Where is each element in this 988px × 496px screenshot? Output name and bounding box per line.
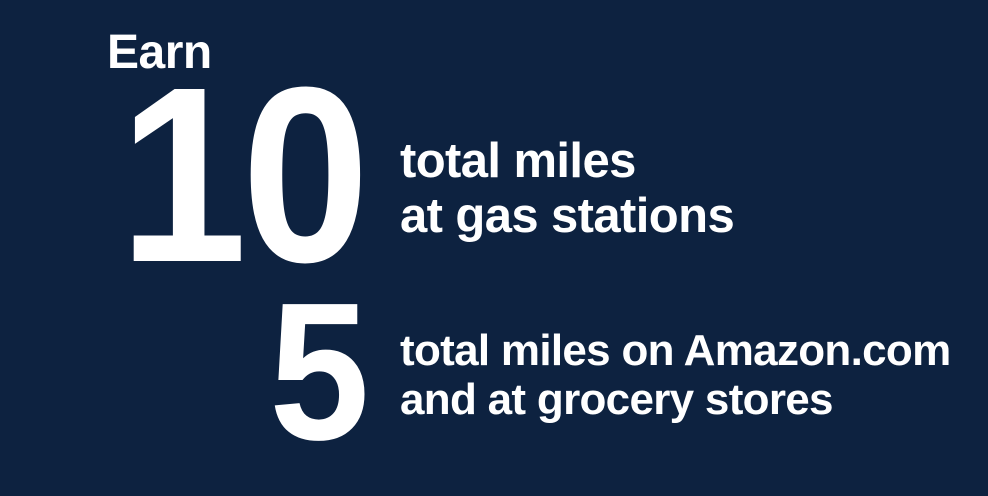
offer-description-line-1: total miles on Amazon.com	[400, 326, 951, 375]
offer-description-amazon-grocery: total miles on Amazon.com and at grocery…	[400, 292, 951, 425]
offer-description-line-2: and at grocery stores	[400, 375, 951, 424]
offer-amount-amazon-grocery: 5	[29, 292, 364, 453]
offer-row-amazon-grocery: 5 total miles on Amazon.com and at groce…	[0, 292, 951, 453]
offer-row-gas-stations: 10 total miles at gas stations	[0, 72, 734, 277]
offer-description-line-1: total miles	[400, 134, 734, 189]
offer-description-gas-stations: total miles at gas stations	[400, 72, 734, 244]
offer-description-line-2: at gas stations	[400, 189, 734, 244]
offer-amount-gas-stations: 10	[29, 72, 364, 277]
rewards-promo-card: Earn 10 total miles at gas stations 5 to…	[0, 0, 988, 496]
